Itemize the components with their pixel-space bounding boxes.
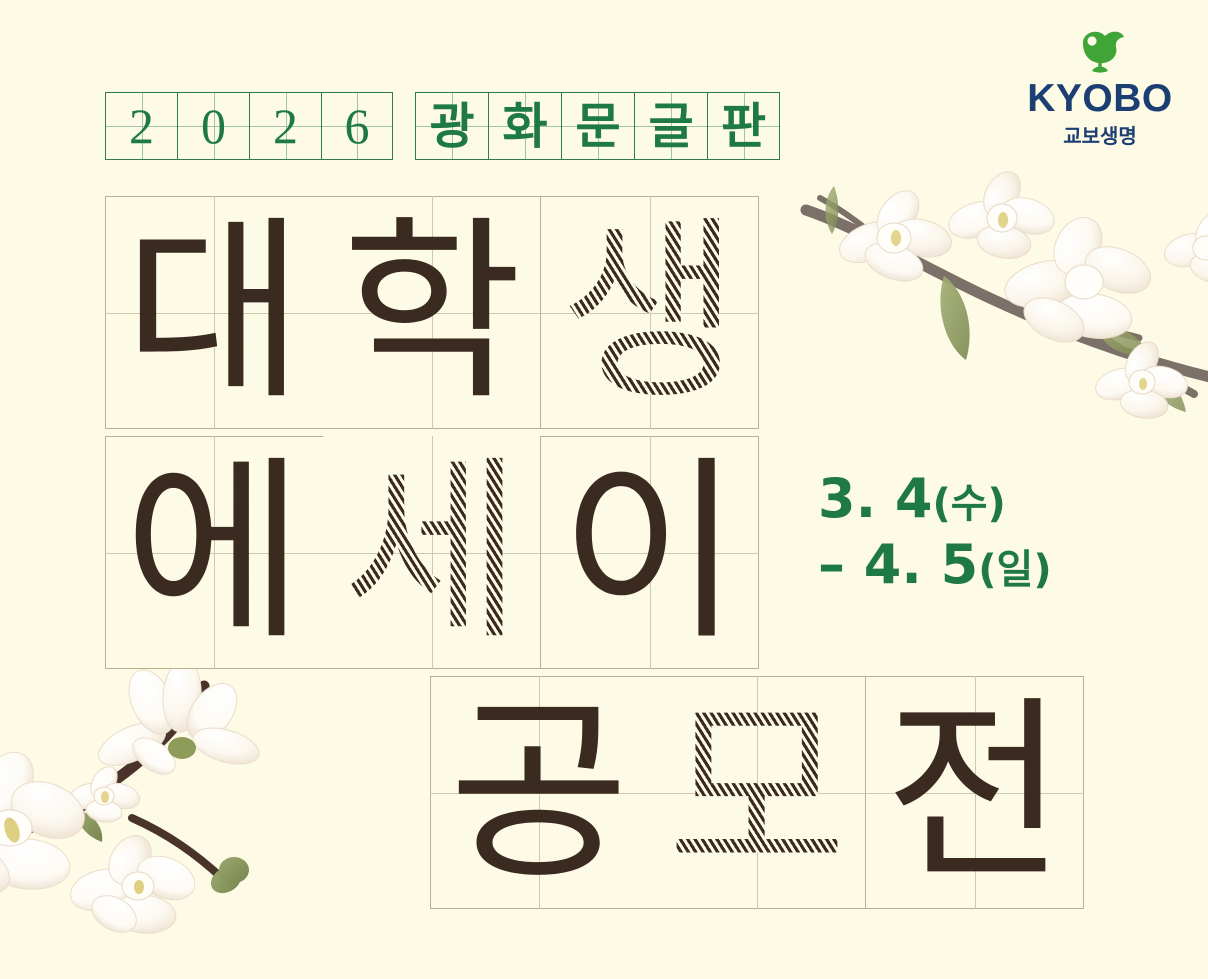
title-cell: 모	[648, 676, 866, 909]
year-cell: 6	[321, 92, 393, 160]
year-manuscript-strip: 2 0 2 6	[105, 92, 393, 160]
title-cell: 이	[541, 436, 759, 669]
year-char: 6	[345, 101, 370, 151]
title-char: 에	[124, 455, 304, 651]
title-char: 이	[560, 455, 740, 651]
title-cell: 세	[323, 436, 541, 669]
title-cell: 학	[323, 196, 541, 429]
brand-cell: 글	[634, 92, 707, 160]
brand-cell: 광	[415, 92, 488, 160]
title-cell: 생	[541, 196, 759, 429]
end-date-line: – 4. 5(일)	[818, 532, 1052, 598]
title-char: 학	[342, 215, 522, 411]
brand-char: 광	[429, 102, 474, 151]
kyobo-wordmark: KYOBO	[1014, 80, 1186, 117]
kyobo-bird-icon	[1014, 26, 1186, 78]
brand-manuscript-strip: 광 화 문 글 판	[415, 92, 780, 160]
title-cell: 공	[430, 676, 648, 909]
title-char: 모	[667, 695, 847, 891]
title-char: 생	[560, 215, 740, 411]
year-cell: 2	[249, 92, 321, 160]
magnolia-branch-icon	[794, 150, 1208, 450]
brand-cell: 판	[707, 92, 780, 160]
year-cell: 0	[177, 92, 249, 160]
end-date-dayofweek: (일)	[978, 547, 1051, 593]
title-row-3: 공 모 전	[430, 676, 1084, 909]
title-char: 대	[124, 215, 304, 411]
start-date-dayofweek: (수)	[932, 481, 1005, 527]
start-date-number: 3. 4	[818, 467, 932, 530]
event-date-block: 3. 4(수) – 4. 5(일)	[818, 466, 1052, 598]
title-char: 전	[885, 695, 1065, 891]
brand-char: 화	[502, 102, 547, 151]
brand-cell: 문	[561, 92, 634, 160]
year-cell: 2	[105, 92, 177, 160]
brand-cell: 화	[488, 92, 561, 160]
year-char: 2	[129, 101, 154, 151]
brand-char: 판	[721, 102, 766, 151]
year-char: 0	[201, 101, 226, 151]
title-char: 공	[449, 695, 629, 891]
kyobo-sub-wordmark: 교보생명	[1014, 120, 1186, 149]
start-date-line: 3. 4(수)	[818, 466, 1052, 532]
title-cell: 대	[105, 196, 323, 429]
title-row-2: 에 세 이	[105, 436, 759, 669]
kyobo-logo: KYOBO 교보생명	[1014, 26, 1186, 149]
year-char: 2	[273, 101, 298, 151]
title-cell: 전	[866, 676, 1084, 909]
title-char: 세	[342, 455, 522, 651]
magnolia-branch-icon	[0, 668, 312, 979]
title-row-1: 대 학 생	[105, 196, 759, 429]
title-cell: 에	[105, 436, 323, 669]
end-date-number: – 4. 5	[818, 533, 978, 596]
brand-char: 문	[575, 102, 620, 151]
poster-canvas: KYOBO 교보생명 2 0 2 6 광 화 문 글 판 대 학	[0, 0, 1208, 979]
brand-char: 글	[648, 102, 693, 151]
